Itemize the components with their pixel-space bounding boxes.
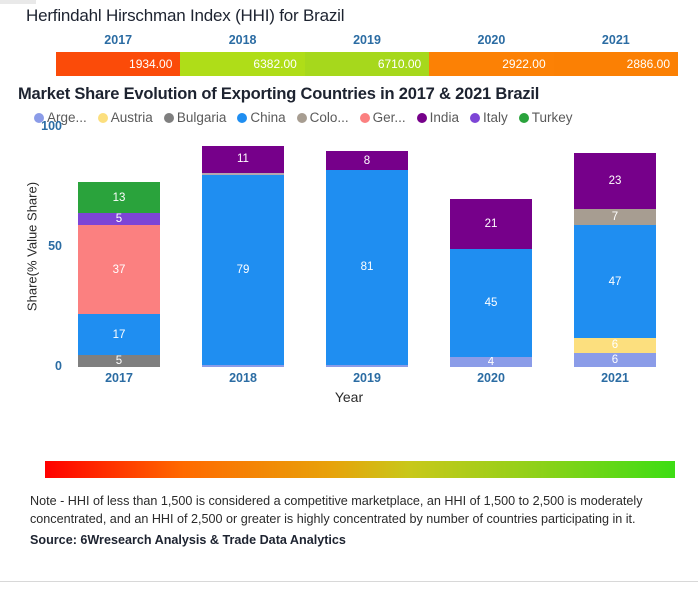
bar-segment-argentina[interactable] xyxy=(326,365,408,367)
legend-label: China xyxy=(250,110,285,125)
bar-segment-india[interactable]: 21 xyxy=(450,199,532,249)
legend-label: Bulgaria xyxy=(177,110,227,125)
bar-segment-india[interactable]: 8 xyxy=(326,151,408,170)
bar-segment-austria[interactable]: 6 xyxy=(574,338,656,352)
y-axis-tick-label: 50 xyxy=(16,239,62,253)
hhi-value-segment: 2922.00 xyxy=(429,52,553,76)
bar-stack-2019[interactable]: 881 xyxy=(326,151,408,367)
legend-item-austria[interactable]: Austria xyxy=(98,110,153,125)
legend-label: Austria xyxy=(111,110,153,125)
market-share-chart: Market Share Evolution of Exporting Coun… xyxy=(0,76,698,407)
bar-segment-value-label: 5 xyxy=(116,355,122,367)
chart-title: Market Share Evolution of Exporting Coun… xyxy=(0,76,698,104)
hhi-year-label: 2020 xyxy=(429,33,553,47)
bar-segment-bulgaria[interactable]: 5 xyxy=(78,355,160,367)
bar-segment-argentina[interactable]: 4 xyxy=(450,357,532,367)
y-axis-tick-label: 0 xyxy=(16,359,62,373)
legend-swatch-icon xyxy=(237,113,247,123)
bar-segment-china[interactable]: 79 xyxy=(202,175,284,365)
bar-stack-2021[interactable]: 2374766 xyxy=(574,153,656,367)
bar-segment-india[interactable]: 11 xyxy=(202,146,284,172)
hhi-title: Herfindahl Hirschman Index (HHI) for Bra… xyxy=(0,0,698,26)
plot-area: 135371751179881214542374766 xyxy=(72,127,690,367)
hhi-value-segment: 6710.00 xyxy=(305,52,429,76)
legend-swatch-icon xyxy=(164,113,174,123)
legend-item-china[interactable]: China xyxy=(237,110,285,125)
legend-item-bulgaria[interactable]: Bulgaria xyxy=(164,110,227,125)
bar-stack-2017[interactable]: 13537175 xyxy=(78,182,160,367)
bottom-divider xyxy=(0,581,698,582)
bar-segment-value-label: 81 xyxy=(361,261,374,273)
bar-segment-china[interactable]: 45 xyxy=(450,249,532,357)
bar-segment-value-label: 79 xyxy=(237,264,250,276)
bar-segment-argentina[interactable] xyxy=(202,365,284,367)
legend-item-germany[interactable]: Ger... xyxy=(360,110,406,125)
bar-segment-value-label: 6 xyxy=(612,339,618,351)
hhi-year-label: 2021 xyxy=(554,33,678,47)
hhi-year-label: 2018 xyxy=(180,33,304,47)
hhi-year-label: 2019 xyxy=(305,33,429,47)
bar-segment-value-label: 45 xyxy=(485,297,498,309)
legend-label: Ger... xyxy=(373,110,406,125)
footer-source: Source: 6Wresearch Analysis & Trade Data… xyxy=(30,533,670,547)
bar-segment-india[interactable]: 23 xyxy=(574,153,656,208)
legend-label: Colo... xyxy=(310,110,349,125)
bar-segment-value-label: 23 xyxy=(609,175,622,187)
top-corner-marker xyxy=(0,0,36,4)
x-axis-tick-label: 2020 xyxy=(450,371,532,385)
bar-segment-china[interactable]: 81 xyxy=(326,170,408,364)
legend-label: India xyxy=(430,110,459,125)
plot-wrapper: Share(% Value Share) 050100 135371751179… xyxy=(0,127,698,407)
hhi-value-segment: 6382.00 xyxy=(180,52,304,76)
legend-swatch-icon xyxy=(297,113,307,123)
bar-segment-argentina[interactable]: 6 xyxy=(574,353,656,367)
bar-segment-value-label: 6 xyxy=(612,354,618,366)
legend-swatch-icon xyxy=(98,113,108,123)
bar-segment-value-label: 21 xyxy=(485,218,498,230)
x-axis-tick-label: 2018 xyxy=(202,371,284,385)
x-axis-tick-label: 2021 xyxy=(574,371,656,385)
bar-segment-value-label: 11 xyxy=(237,153,249,165)
bar-segment-value-label: 17 xyxy=(113,329,126,341)
chart-legend: Arge...AustriaBulgariaChinaColo...Ger...… xyxy=(0,104,698,125)
hhi-value-bar: 1934.006382.006710.002922.002886.00 xyxy=(56,52,678,76)
legend-swatch-icon xyxy=(519,113,529,123)
hhi-year-label: 2017 xyxy=(56,33,180,47)
bar-segment-value-label: 47 xyxy=(609,276,622,288)
x-axis-tick-label: 2019 xyxy=(326,371,408,385)
hhi-value-segment: 1934.00 xyxy=(56,52,180,76)
legend-item-italy[interactable]: Italy xyxy=(470,110,508,125)
legend-item-turkey[interactable]: Turkey xyxy=(519,110,573,125)
legend-swatch-icon xyxy=(360,113,370,123)
bar-segment-value-label: 4 xyxy=(488,357,494,367)
legend-swatch-icon xyxy=(470,113,480,123)
x-axis-tick-label: 2017 xyxy=(78,371,160,385)
bar-stack-2018[interactable]: 1179 xyxy=(202,146,284,367)
hhi-section: Herfindahl Hirschman Index (HHI) for Bra… xyxy=(0,0,698,76)
legend-swatch-icon xyxy=(417,113,427,123)
legend-item-india[interactable]: India xyxy=(417,110,459,125)
legend-item-colombia[interactable]: Colo... xyxy=(297,110,349,125)
bar-segment-china[interactable]: 47 xyxy=(574,225,656,338)
hhi-value-segment: 2886.00 xyxy=(554,52,678,76)
hhi-gradient-scale xyxy=(45,461,675,478)
bar-segment-colombia[interactable]: 7 xyxy=(574,209,656,226)
footer: Note - HHI of less than 1,500 is conside… xyxy=(30,493,670,547)
y-axis-tick-label: 100 xyxy=(16,119,62,133)
legend-label: Italy xyxy=(483,110,508,125)
bar-segment-value-label: 37 xyxy=(113,264,126,276)
bar-segment-china[interactable]: 17 xyxy=(78,314,160,355)
bar-segment-value-label: 13 xyxy=(113,192,126,204)
bar-segment-value-label: 8 xyxy=(364,155,370,167)
footer-note: Note - HHI of less than 1,500 is conside… xyxy=(30,493,670,529)
bar-segment-turkey[interactable]: 13 xyxy=(78,182,160,213)
hhi-year-header-row: 20172018201920202021 xyxy=(56,33,678,47)
bar-segment-italy[interactable]: 5 xyxy=(78,213,160,225)
bar-segment-value-label: 7 xyxy=(612,211,618,223)
bar-segment-germany[interactable]: 37 xyxy=(78,225,160,314)
legend-label: Turkey xyxy=(532,110,573,125)
bar-segment-value-label: 5 xyxy=(116,213,122,225)
x-axis-title: Year xyxy=(0,389,698,405)
bar-stack-2020[interactable]: 21454 xyxy=(450,199,532,367)
